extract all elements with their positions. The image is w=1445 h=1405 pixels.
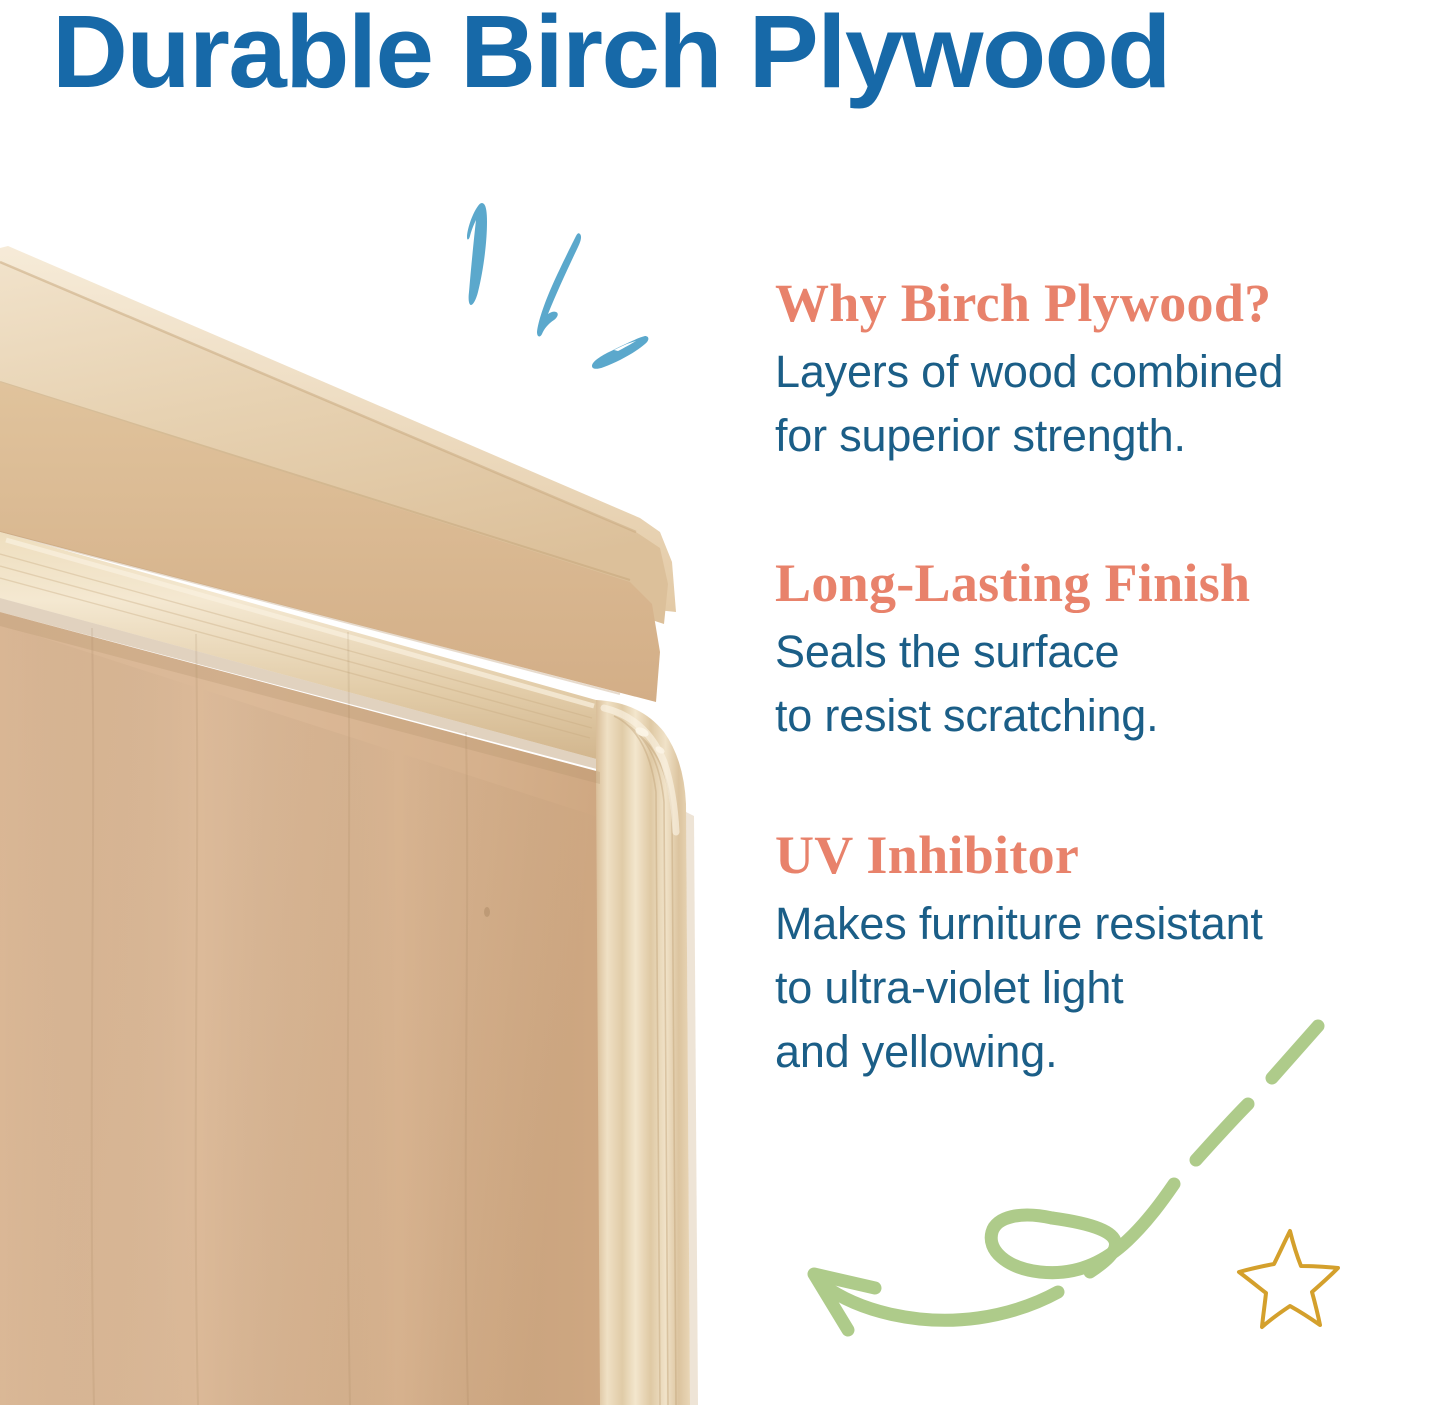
page-title: Durable Birch Plywood (52, 0, 1445, 108)
feature-heading: Why Birch Plywood? (775, 272, 1415, 334)
feature-body-line: and yellowing. (775, 1020, 1415, 1084)
feature-heading: UV Inhibitor (775, 824, 1415, 886)
plywood-cabinet-illustration (0, 232, 700, 1405)
feature-list: Why Birch Plywood? Layers of wood combin… (775, 272, 1415, 1084)
feature-spacer (775, 784, 1415, 824)
feature-body-line: for superior strength. (775, 404, 1415, 468)
feature-body: Makes furniture resistant to ultra-viole… (775, 892, 1415, 1084)
feature-body-line: to resist scratching. (775, 684, 1415, 748)
arrow-head-icon (814, 1274, 875, 1330)
feature-body-line: Layers of wood combined (775, 340, 1415, 404)
feature-body-line: Makes furniture resistant (775, 892, 1415, 956)
feature-body: Seals the surface to resist scratching. (775, 620, 1415, 748)
product-photo (0, 232, 700, 1405)
feature-body: Layers of wood combined for superior str… (775, 340, 1415, 468)
feature-uv-inhibitor: UV Inhibitor Makes furniture resistant t… (775, 824, 1415, 1084)
star-outline-icon (1239, 1231, 1338, 1327)
feature-spacer (775, 504, 1415, 552)
feature-heading: Long-Lasting Finish (775, 552, 1415, 614)
infographic-root: Durable Birch Plywood (0, 0, 1445, 1405)
feature-long-lasting-finish: Long-Lasting Finish Seals the surface to… (775, 552, 1415, 748)
feature-why-birch-plywood: Why Birch Plywood? Layers of wood combin… (775, 272, 1415, 468)
feature-body-line: Seals the surface (775, 620, 1415, 684)
feature-body-line: to ultra-violet light (775, 956, 1415, 1020)
